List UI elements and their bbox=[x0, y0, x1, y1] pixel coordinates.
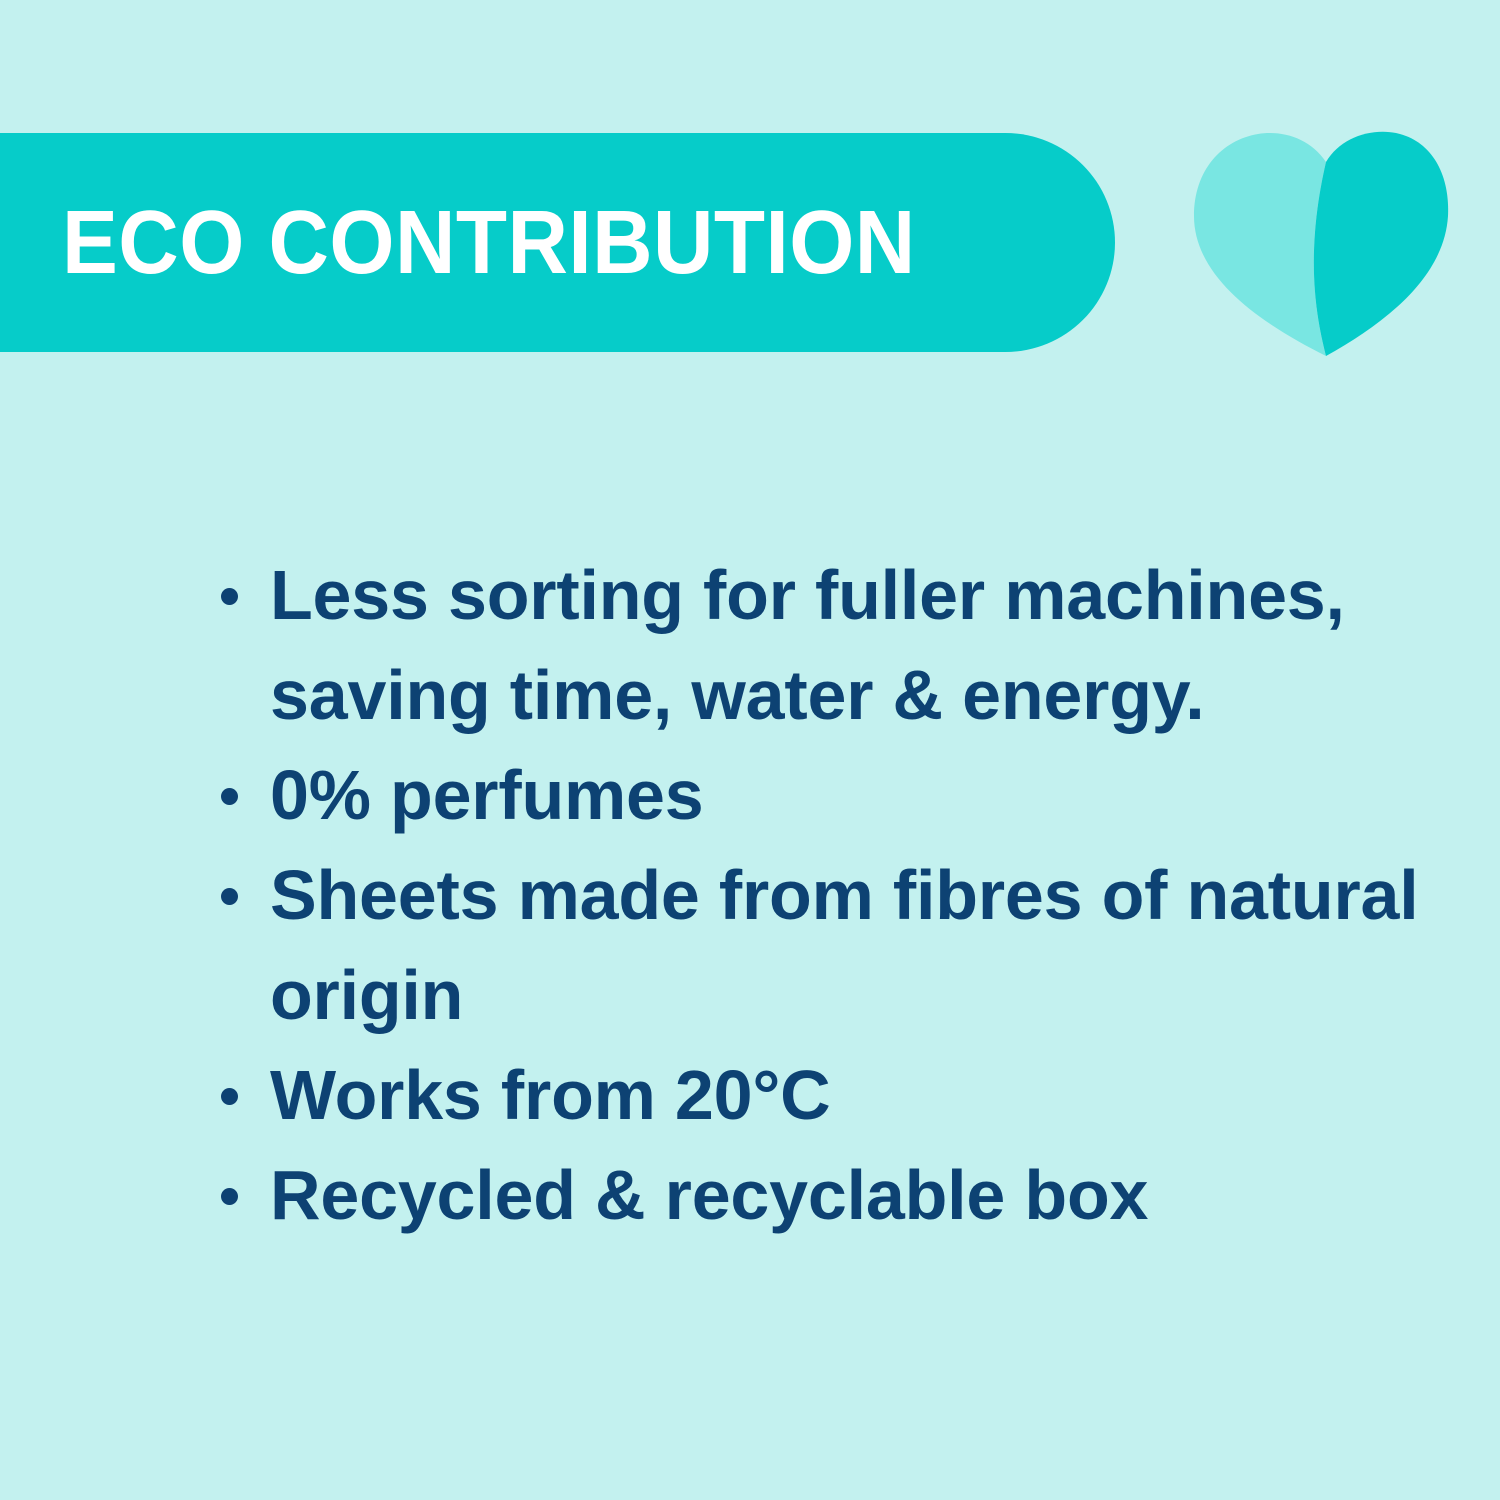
list-item: Less sorting for fuller machines, saving… bbox=[205, 545, 1435, 745]
list-item-label: 0% perfumes bbox=[270, 756, 704, 834]
list-item: 0% perfumes bbox=[205, 745, 1435, 845]
bullet-dot-icon bbox=[221, 588, 238, 605]
list-item-label: Works from 20°C bbox=[270, 1056, 831, 1134]
list-item-label: Sheets made from fibres of natural origi… bbox=[270, 856, 1418, 1034]
page-title: ECO CONTRIBUTION bbox=[62, 198, 916, 288]
heart-icon bbox=[1190, 128, 1452, 358]
list-item-label: Less sorting for fuller machines, saving… bbox=[270, 556, 1345, 734]
list-item-label: Recycled & recyclable box bbox=[270, 1156, 1148, 1234]
list-item: Recycled & recyclable box bbox=[205, 1145, 1435, 1245]
eco-benefits-list: Less sorting for fuller machines, saving… bbox=[205, 545, 1435, 1245]
heart-right-lobe bbox=[1314, 132, 1448, 356]
bullet-dot-icon bbox=[221, 1088, 238, 1105]
header-banner: ECO CONTRIBUTION bbox=[0, 133, 1115, 352]
bullet-dot-icon bbox=[221, 788, 238, 805]
list-item: Works from 20°C bbox=[205, 1045, 1435, 1145]
heart-left-lobe bbox=[1194, 133, 1326, 356]
list-item: Sheets made from fibres of natural origi… bbox=[205, 845, 1435, 1045]
bullet-dot-icon bbox=[221, 1188, 238, 1205]
bullet-dot-icon bbox=[221, 888, 238, 905]
eco-contribution-poster: ECO CONTRIBUTION Less sorting for fuller… bbox=[0, 0, 1500, 1500]
